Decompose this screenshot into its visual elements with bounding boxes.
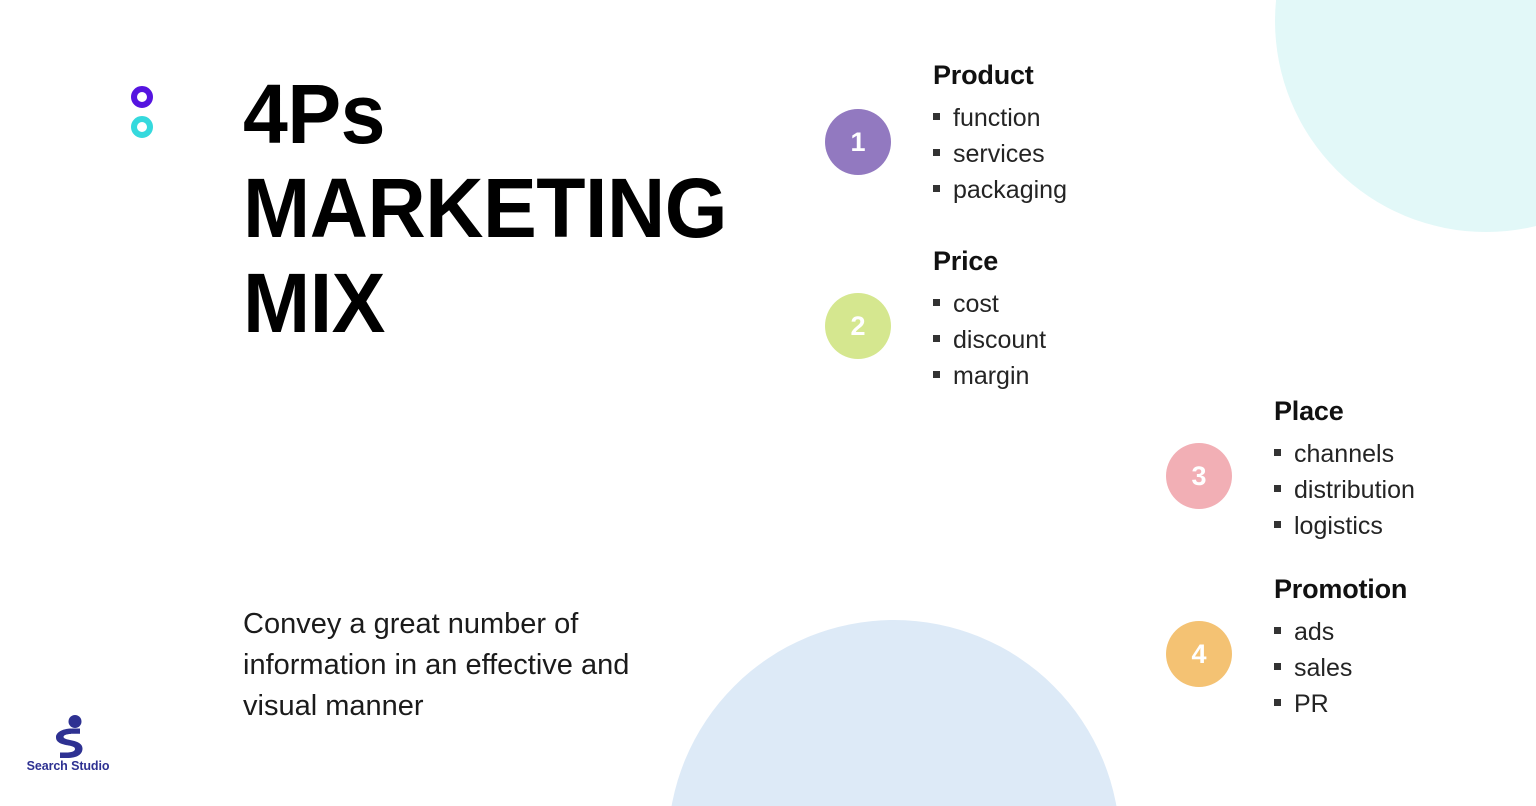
list-item: PR: [1274, 686, 1407, 722]
group-title-product: Product: [933, 60, 1067, 91]
number-badge-4-label: 4: [1191, 639, 1206, 670]
cyan-ring-icon: [131, 116, 153, 138]
square-bullet-icon: [1274, 521, 1281, 528]
search-studio-logo-icon: [42, 714, 94, 758]
list-item-label: logistics: [1294, 508, 1383, 544]
number-badge-1: 1: [825, 109, 891, 175]
list-item: packaging: [933, 172, 1067, 208]
subtitle-text: Convey a great number of information in …: [243, 604, 643, 727]
number-badge-3-label: 3: [1191, 461, 1206, 492]
group-title-price: Price: [933, 246, 1046, 277]
square-bullet-icon: [1274, 449, 1281, 456]
square-bullet-icon: [1274, 627, 1281, 634]
square-bullet-icon: [933, 185, 940, 192]
list-item: logistics: [1274, 508, 1415, 544]
list-item-label: PR: [1294, 686, 1329, 722]
list-item: function: [933, 100, 1067, 136]
number-badge-4: 4: [1166, 621, 1232, 687]
list-item: distribution: [1274, 472, 1415, 508]
list-item-label: services: [953, 136, 1045, 172]
number-badge-2: 2: [825, 293, 891, 359]
list-item-label: margin: [953, 358, 1029, 394]
list-item: cost: [933, 286, 1046, 322]
logo-text: Search Studio: [20, 759, 116, 773]
group-list-product: function services packaging: [933, 100, 1067, 208]
list-item: channels: [1274, 436, 1415, 472]
list-item: sales: [1274, 650, 1407, 686]
number-badge-3: 3: [1166, 443, 1232, 509]
headline-line-2: MARKETING: [243, 168, 838, 249]
list-item: discount: [933, 322, 1046, 358]
square-bullet-icon: [933, 299, 940, 306]
list-item: ads: [1274, 614, 1407, 650]
list-item-label: distribution: [1294, 472, 1415, 508]
list-item-label: function: [953, 100, 1041, 136]
mint-circle-decoration: [1275, 0, 1536, 232]
list-item-label: ads: [1294, 614, 1334, 650]
list-item: services: [933, 136, 1067, 172]
slide-canvas: 4Ps MARKETING MIX Convey a great number …: [0, 0, 1536, 806]
page-title: 4Ps MARKETING MIX: [243, 74, 863, 344]
list-item-label: packaging: [953, 172, 1067, 208]
list-item-label: sales: [1294, 650, 1352, 686]
square-bullet-icon: [1274, 663, 1281, 670]
group-list-price: cost discount margin: [933, 286, 1046, 394]
list-item: margin: [933, 358, 1046, 394]
list-item-label: discount: [953, 322, 1046, 358]
group-title-place: Place: [1274, 396, 1415, 427]
headline-line-1: 4Ps: [243, 74, 838, 155]
square-bullet-icon: [1274, 699, 1281, 706]
square-bullet-icon: [933, 113, 940, 120]
ring-decoration-group: [131, 86, 163, 138]
square-bullet-icon: [1274, 485, 1281, 492]
square-bullet-icon: [933, 335, 940, 342]
list-item-label: channels: [1294, 436, 1394, 472]
number-badge-1-label: 1: [850, 127, 865, 158]
logo: Search Studio: [20, 714, 116, 773]
group-list-promotion: ads sales PR: [1274, 614, 1407, 722]
blue-circle-decoration: [668, 620, 1120, 806]
purple-ring-icon: [131, 86, 153, 108]
square-bullet-icon: [933, 371, 940, 378]
group-list-place: channels distribution logistics: [1274, 436, 1415, 544]
square-bullet-icon: [933, 149, 940, 156]
group-title-promotion: Promotion: [1274, 574, 1407, 605]
number-badge-2-label: 2: [850, 311, 865, 342]
list-item-label: cost: [953, 286, 999, 322]
headline-line-3: MIX: [243, 263, 838, 344]
